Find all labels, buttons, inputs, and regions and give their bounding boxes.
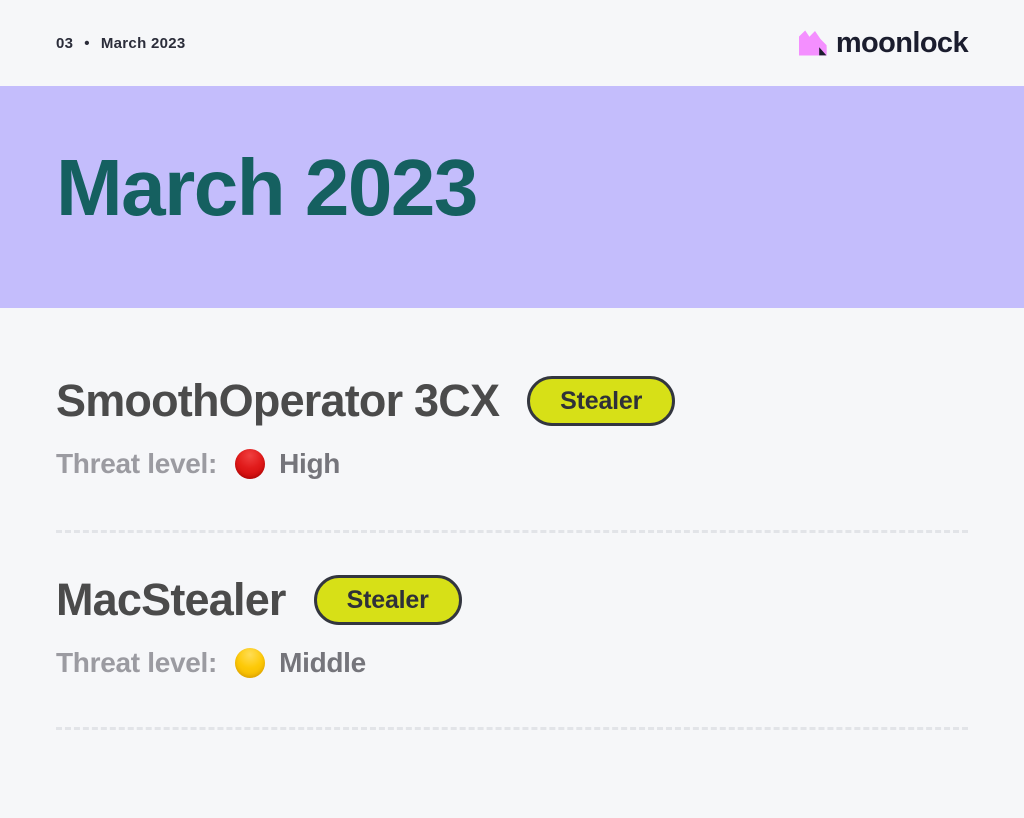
threat-level-row: Threat level: Middle — [56, 647, 968, 679]
entry-header: MacStealer Stealer — [56, 575, 968, 625]
issue-meta: 03 • March 2023 — [56, 35, 186, 52]
moonlock-logo-mark-icon — [799, 30, 827, 56]
issue-number: 03 — [56, 35, 73, 52]
newsletter-page: 03 • March 2023 moonlock March 2023 Smoo… — [0, 0, 1024, 818]
separator-dot: • — [84, 36, 90, 51]
entry-header: SmoothOperator 3CX Stealer — [56, 376, 968, 426]
month-banner: March 2023 — [0, 86, 1024, 308]
threat-level-row: Threat level: High — [56, 448, 968, 480]
threat-level-value: High — [279, 448, 340, 480]
issue-date: March 2023 — [101, 35, 186, 52]
threat-level-value: Middle — [279, 647, 366, 679]
status-badge[interactable]: Stealer — [527, 376, 675, 426]
page-header: 03 • March 2023 moonlock — [0, 0, 1024, 86]
threat-level-label: Threat level: — [56, 647, 217, 679]
red-circle-icon — [235, 449, 265, 479]
brand-logo[interactable]: moonlock — [799, 29, 968, 58]
threat-name: MacStealer — [56, 575, 286, 625]
yellow-circle-icon — [235, 648, 265, 678]
brand-name: moonlock — [836, 29, 968, 58]
status-badge[interactable]: Stealer — [314, 575, 462, 625]
threat-list: SmoothOperator 3CX Stealer Threat level:… — [0, 308, 1024, 730]
threat-name: SmoothOperator 3CX — [56, 376, 499, 426]
banner-title: March 2023 — [56, 148, 477, 228]
list-item: SmoothOperator 3CX Stealer Threat level:… — [0, 308, 1024, 480]
threat-level-label: Threat level: — [56, 448, 217, 480]
divider — [56, 727, 968, 730]
list-item: MacStealer Stealer Threat level: Middle — [0, 533, 1024, 679]
